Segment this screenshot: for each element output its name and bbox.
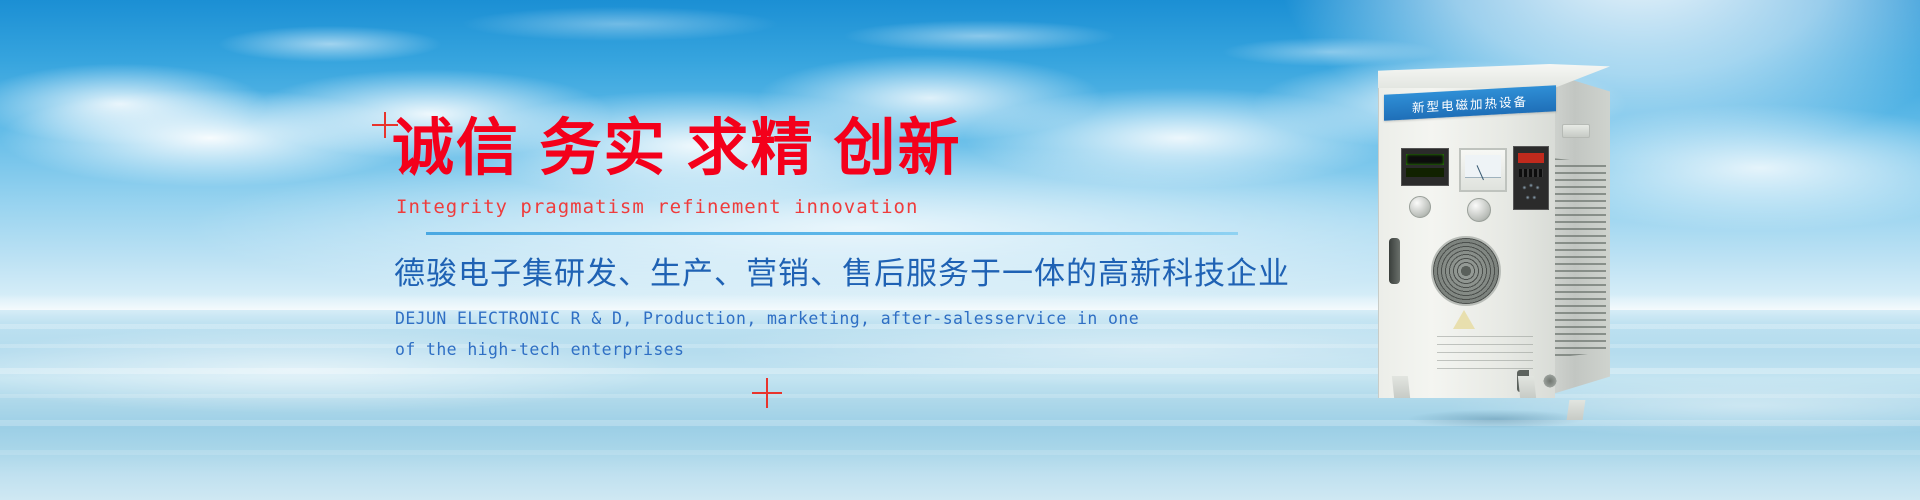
door-handle — [1389, 238, 1400, 284]
product-image-heating-equipment: 新型电磁加热设备 — [1378, 64, 1610, 424]
analog-meter-gauge — [1459, 148, 1507, 192]
subtitle-chinese: 德骏电子集研发、生产、营销、售后服务于一体的高新科技企业 — [394, 257, 1272, 291]
led-indicator-row — [1519, 169, 1543, 177]
gauge-dial — [1465, 155, 1501, 178]
cooling-fan-icon — [1431, 236, 1501, 306]
headline-chinese: 诚信 务实 求精 创新 — [392, 118, 1272, 180]
product-side-panel — [1546, 72, 1610, 396]
vent-grille-icon — [1552, 158, 1606, 358]
controller-display-secondary — [1406, 168, 1444, 177]
subtitle-english: DEJUN ELECTRONIC R & D, Production, mark… — [395, 304, 1272, 365]
status-bar-indicator — [1518, 153, 1544, 163]
keypad-buttons-icon — [1520, 181, 1542, 203]
side-latch — [1562, 124, 1590, 138]
subtitle-english-line-1: DEJUN ELECTRONIC R & D, Production, mark… — [395, 304, 1272, 335]
hero-banner: 诚信 务实 求精 创新 Integrity pragmatism refinem… — [0, 0, 1920, 500]
product-front-panel — [1378, 78, 1555, 398]
keypad-controller — [1513, 146, 1549, 210]
rotary-knob — [1467, 198, 1491, 222]
product-foot — [1518, 376, 1536, 398]
banner-copy: 诚信 务实 求精 创新 Integrity pragmatism refinem… — [392, 118, 1272, 365]
product-foot — [1567, 400, 1586, 420]
controller-display — [1406, 154, 1444, 165]
divider-rule — [426, 232, 1238, 235]
subtitle-english-line-2: of the high-tech enterprises — [395, 335, 1272, 366]
rotary-knob — [1409, 196, 1431, 218]
temperature-controller — [1401, 148, 1449, 186]
product-foot — [1392, 376, 1410, 398]
headline-english: Integrity pragmatism refinement innovati… — [396, 196, 1272, 218]
warning-triangle-icon — [1453, 310, 1475, 329]
